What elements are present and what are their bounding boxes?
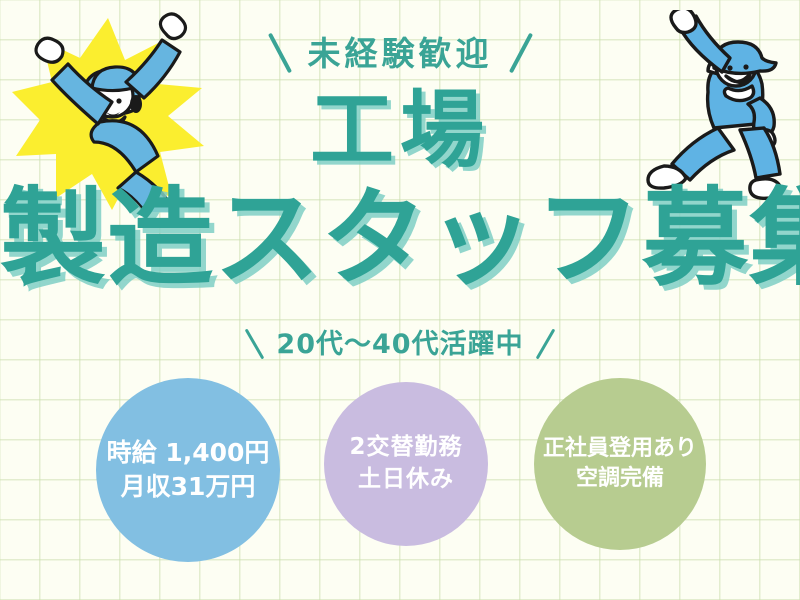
eyebrow-row: 未経験歓迎 [0, 26, 800, 80]
slash-right-icon [508, 33, 532, 74]
benefit-welfare-line1: 正社員登用あり [543, 434, 697, 464]
benefit-circle-pay: 時給 1,400円 月収31万円 [96, 378, 280, 562]
headline-secondary: 製造スタッフ募集 [0, 186, 800, 292]
benefit-circle-shift: 2交替勤務 土日休み [324, 382, 488, 546]
ageband-slash-right-icon [535, 329, 555, 360]
slash-left-icon [267, 33, 291, 74]
headline-primary: 工場 [0, 88, 800, 172]
benefit-pay-line1: 時給 1,400円 [107, 436, 270, 471]
job-ad-poster: 未経験歓迎 工場 製造スタッフ募集 20代～40代活躍中 時給 1,400円 月… [0, 0, 800, 600]
ageband-slash-left-icon [245, 329, 265, 360]
eyebrow-text: 未経験歓迎 [308, 37, 493, 70]
ageband-text: 20代～40代活躍中 [276, 331, 523, 358]
benefit-shift-line1: 2交替勤務 [349, 432, 462, 464]
benefit-circle-welfare: 正社員登用あり 空調完備 [534, 378, 706, 550]
ageband-row: 20代～40代活躍中 [0, 322, 800, 366]
benefit-shift-line2: 土日休み [358, 464, 454, 496]
benefit-pay-line2: 月収31万円 [121, 470, 256, 505]
benefit-welfare-line2: 空調完備 [576, 464, 664, 494]
